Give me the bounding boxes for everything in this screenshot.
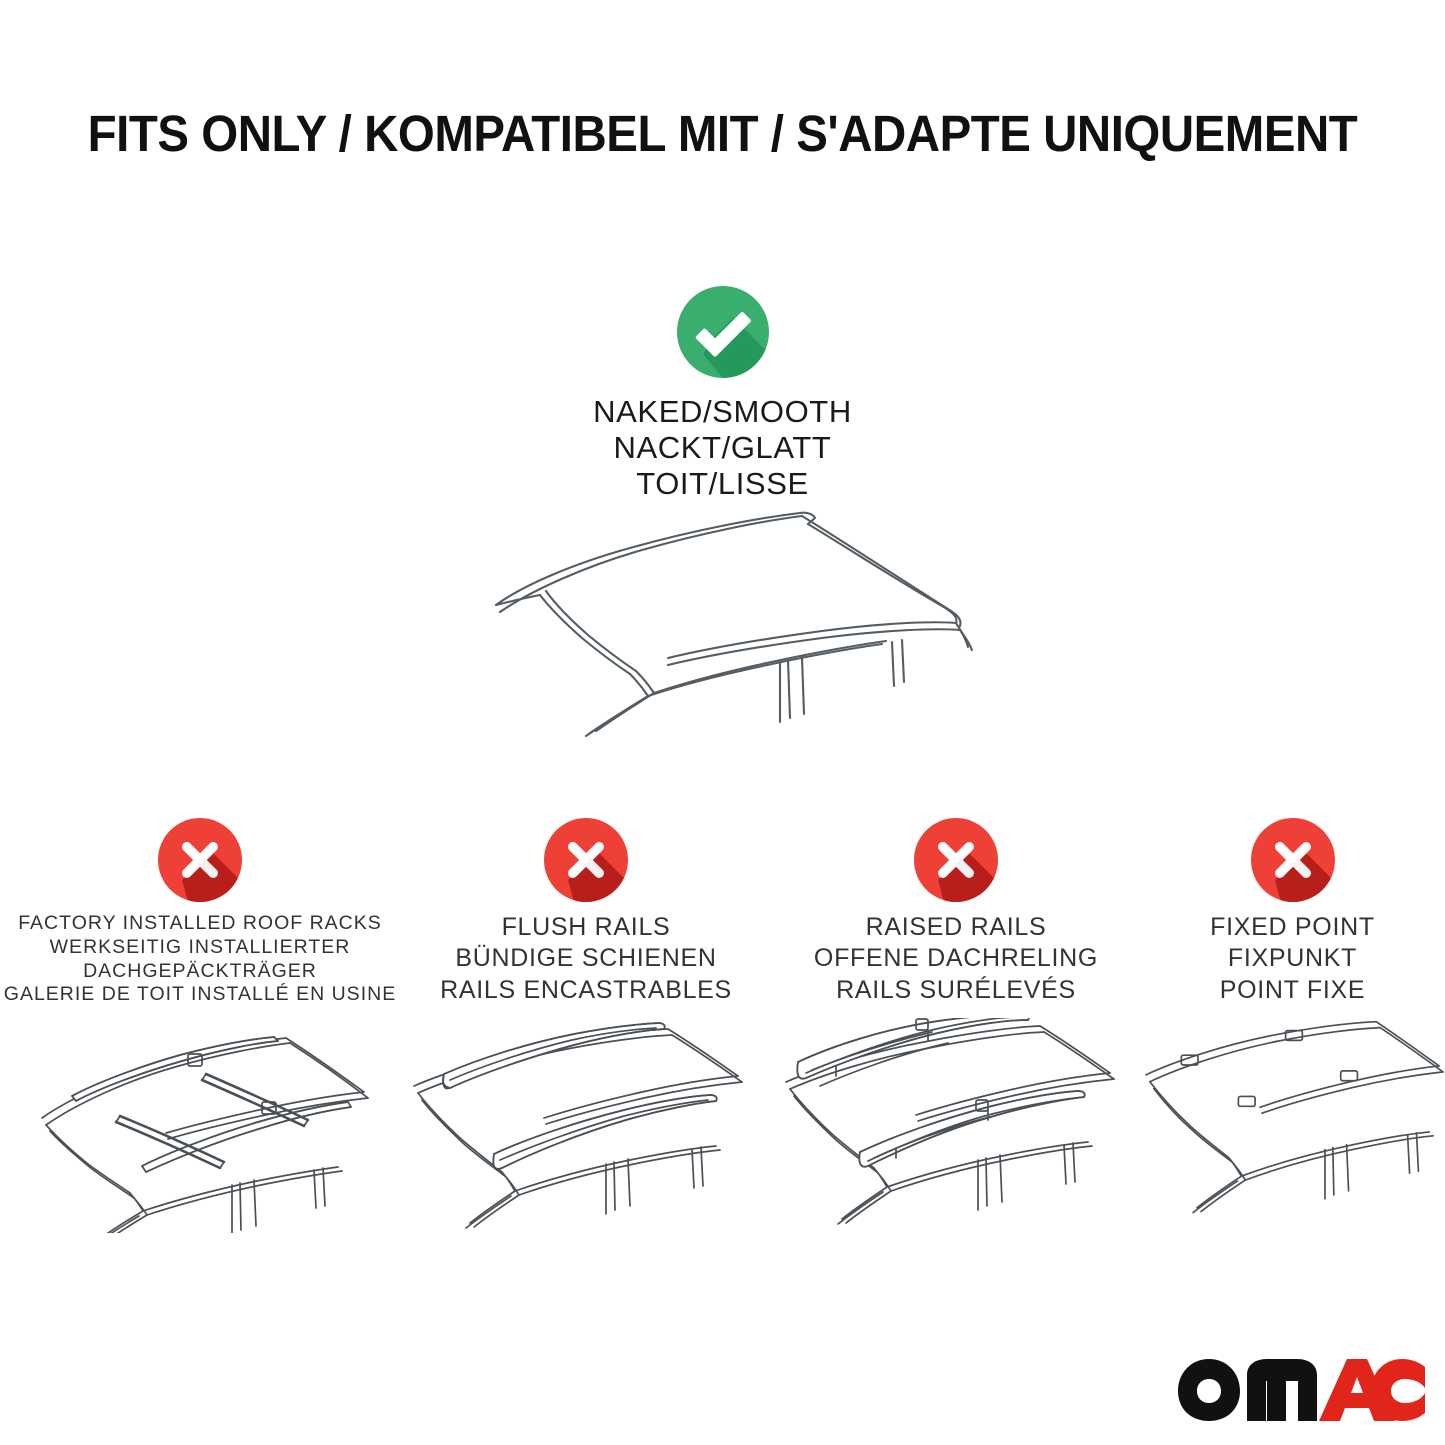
caption-line-1: RAISED RAILS xyxy=(772,912,1140,943)
caption-line-2: OFFENE DACHRELING xyxy=(772,943,1140,974)
rejected-roof-types-row: FACTORY INSTALLED ROOF RACKS WERKSEITIG … xyxy=(0,818,1445,1007)
caption-line-2: BÜNDIGE SCHIENEN xyxy=(400,943,772,974)
red-x-icon xyxy=(1251,818,1335,902)
page-title: FITS ONLY / KOMPATIBEL MIT / S'ADAPTE UN… xyxy=(51,104,1395,163)
car-roof-naked-smooth-illustration xyxy=(462,490,1002,740)
rejected-caption-factory-installed-roof-racks: FACTORY INSTALLED ROOF RACKS WERKSEITIG … xyxy=(0,912,400,1007)
caption-line-3: POINT FIXE xyxy=(1140,975,1445,1006)
rejected-item-flush-rails: FLUSH RAILS BÜNDIGE SCHIENEN RAILS ENCAS… xyxy=(400,818,772,1006)
red-x-icon xyxy=(544,818,628,902)
caption-line-1: FLUSH RAILS xyxy=(400,912,772,943)
compatibility-infographic: FITS ONLY / KOMPATIBEL MIT / S'ADAPTE UN… xyxy=(0,0,1445,1445)
rejected-caption-raised-rails: RAISED RAILS OFFENE DACHRELING RAILS SUR… xyxy=(772,912,1140,1006)
rejected-item-raised-rails: RAISED RAILS OFFENE DACHRELING RAILS SUR… xyxy=(772,818,1140,1006)
rejected-caption-fixed-point: FIXED POINT FIXPUNKT POINT FIXE xyxy=(1140,912,1445,1006)
car-roof-fixed-point-illustration xyxy=(1140,1018,1445,1233)
car-roof-factory-racks-illustration xyxy=(0,1018,400,1233)
caption-line-1: FACTORY INSTALLED ROOF RACKS xyxy=(0,912,400,936)
rejected-caption-flush-rails: FLUSH RAILS BÜNDIGE SCHIENEN RAILS ENCAS… xyxy=(400,912,772,1006)
caption-line-3: RAILS SURÉLEVÉS xyxy=(772,975,1140,1006)
red-x-icon xyxy=(914,818,998,902)
rejected-item-factory-installed-roof-racks: FACTORY INSTALLED ROOF RACKS WERKSEITIG … xyxy=(0,818,400,1007)
omac-logo xyxy=(1175,1353,1425,1423)
rejected-item-fixed-point: FIXED POINT FIXPUNKT POINT FIXE xyxy=(1140,818,1445,1006)
car-roof-flush-rails-illustration xyxy=(400,1018,772,1233)
approved-caption: NAKED/SMOOTH NACKT/GLATT TOIT/LISSE xyxy=(0,394,1445,502)
approved-roof-section: NAKED/SMOOTH NACKT/GLATT TOIT/LISSE xyxy=(0,286,1445,502)
caption-line-1: FIXED POINT xyxy=(1140,912,1445,943)
caption-line-3: DACHGEPÄCKTRÄGER xyxy=(0,960,400,984)
caption-line-4: GALERIE DE TOIT INSTALLÉ EN USINE xyxy=(0,983,400,1007)
approved-caption-line-2: NACKT/GLATT xyxy=(0,430,1445,466)
car-roof-raised-rails-illustration xyxy=(772,1018,1140,1233)
red-x-icon xyxy=(158,818,242,902)
caption-line-3: RAILS ENCASTRABLES xyxy=(400,975,772,1006)
caption-line-2: FIXPUNKT xyxy=(1140,943,1445,974)
green-check-icon xyxy=(677,286,769,378)
caption-line-2: WERKSEITIG INSTALLIERTER xyxy=(0,936,400,960)
approved-caption-line-1: NAKED/SMOOTH xyxy=(0,394,1445,430)
